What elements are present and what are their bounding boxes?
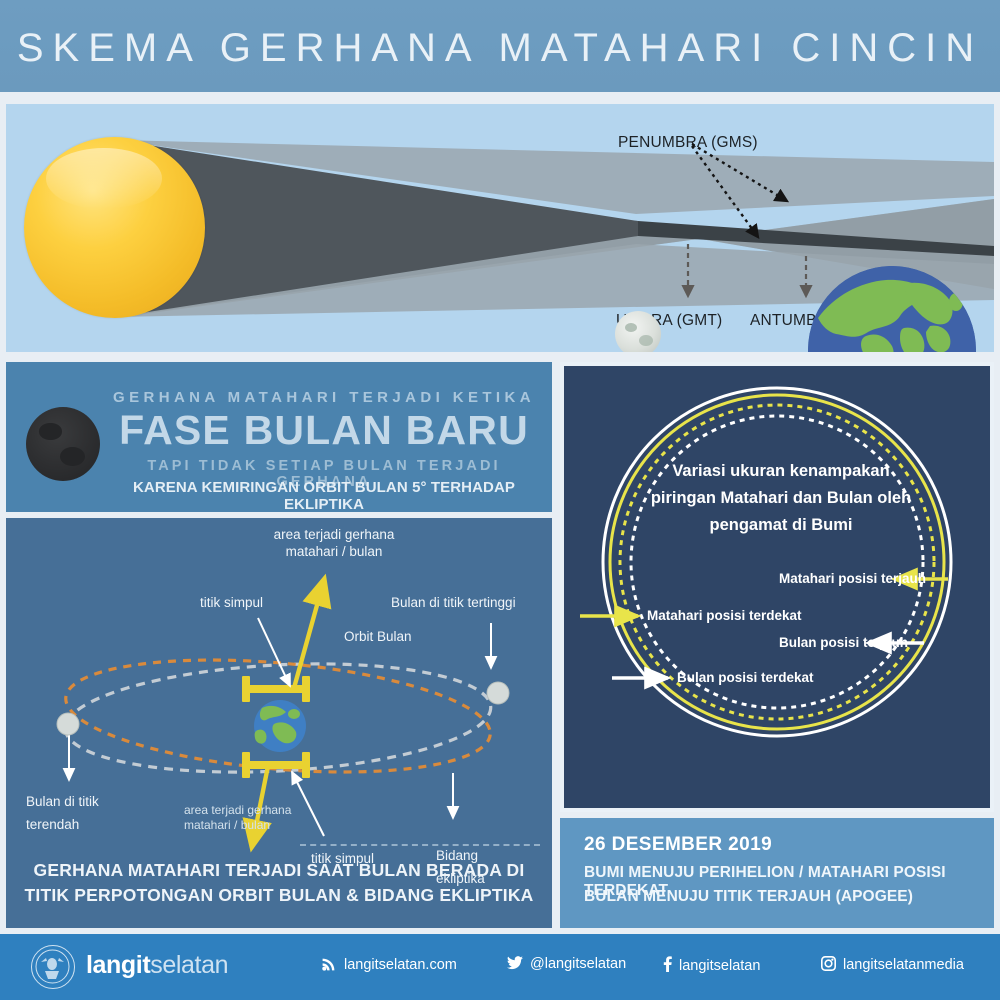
apparent-size-rings xyxy=(564,366,990,808)
label-node-top: titik simpul xyxy=(200,594,263,611)
new-moon-kicker: GERHANA MATAHARI TERJADI KETIKA xyxy=(106,389,542,406)
orbit-caption: GERHANA MATAHARI TERJADI SAAT BULAN BERA… xyxy=(16,858,542,908)
instagram-icon xyxy=(821,956,836,975)
label-eclipse-area-bottom: area terjadi gerhana matahari / bulan xyxy=(184,803,291,833)
label-moon-orbit: Orbit Bulan xyxy=(344,628,412,645)
label-sun-nearest: Matahari posisi terdekat xyxy=(647,608,802,623)
social-link-instagram[interactable]: langitselatanmedia xyxy=(821,956,964,975)
apparent-size-title: Variasi ukuran kenampakan piringan Matah… xyxy=(624,458,938,539)
event-note-2: BULAN MENUJU TITIK TERJAUH (APOGEE) xyxy=(584,888,913,906)
label-eclipse-area-top: area terjadi gerhana matahari / bulan xyxy=(259,526,409,560)
label-moon-farthest: Bulan posisi terjauh xyxy=(779,635,908,650)
new-moon-icon xyxy=(26,407,100,481)
event-date-panel: 26 DESEMBER 2019 BUMI MENUJU PERIHELION … xyxy=(560,818,994,928)
label-eclipse-area-top-line1: area terjadi gerhana xyxy=(259,526,409,543)
label-moon-lowest-line2: terendah xyxy=(26,813,99,836)
facebook-icon xyxy=(663,956,672,976)
social-link-facebook[interactable]: langitselatan xyxy=(663,956,760,976)
rss-icon xyxy=(322,956,337,975)
apparent-size-title-line3: pengamat di Bumi xyxy=(624,512,938,539)
infographic-page: SKEMA GERHANA MATAHARI CINCIN xyxy=(0,0,1000,1000)
header-banner: SKEMA GERHANA MATAHARI CINCIN xyxy=(0,0,1000,92)
footer-bar: langitselatan langitselatan.com @langits… xyxy=(0,934,1000,1000)
social-link-website[interactable]: langitselatan.com xyxy=(322,956,457,975)
apparent-size-title-line1: Variasi ukuran kenampakan xyxy=(624,458,938,485)
langitselatan-seal-icon xyxy=(31,945,75,989)
social-link-twitter[interactable]: @langitselatan xyxy=(507,956,626,974)
new-moon-phase-panel: GERHANA MATAHARI TERJADI KETIKA FASE BUL… xyxy=(6,362,552,512)
label-eclipse-area-top-line2: matahari / bulan xyxy=(259,543,409,560)
brand-wordmark: langitselatan xyxy=(86,951,228,980)
eclipse-geometry-diagram: PENUMBRA (GMS) UMBRA (GMT) ANTUMBRA (GMC… xyxy=(6,104,994,352)
social-label-instagram: langitselatanmedia xyxy=(843,957,964,973)
seal-emblem-icon xyxy=(32,946,73,987)
twitter-icon xyxy=(507,956,523,974)
label-eclipse-area-bottom-line1: area terjadi gerhana xyxy=(184,803,291,818)
orbit-caption-line1: GERHANA MATAHARI TERJADI SAAT BULAN BERA… xyxy=(16,858,542,883)
new-moon-note: KARENA KEMIRINGAN ORBIT BULAN 5° TERHADA… xyxy=(106,479,542,513)
social-label-website: langitselatan.com xyxy=(344,957,457,973)
apparent-size-title-line2: piringan Matahari dan Bulan oleh xyxy=(624,485,938,512)
label-moon-lowest-line1: Bulan di titik xyxy=(26,790,99,813)
brand-light: selatan xyxy=(150,951,228,979)
orbit-caption-line2: TITIK PERPOTONGAN ORBIT BULAN & BIDANG E… xyxy=(16,883,542,908)
penumbra-leader-arrows xyxy=(6,104,994,352)
apparent-size-panel: Variasi ukuran kenampakan piringan Matah… xyxy=(560,362,994,812)
label-sun-farthest: Matahari posisi terjauh xyxy=(779,571,926,586)
brand-bold: langit xyxy=(86,951,150,979)
label-moon-highest: Bulan di titik tertinggi xyxy=(391,594,516,611)
label-moon-nearest: Bulan posisi terdekat xyxy=(677,670,814,685)
page-title: SKEMA GERHANA MATAHARI CINCIN xyxy=(0,26,1000,71)
social-label-facebook: langitselatan xyxy=(679,958,760,974)
label-moon-lowest: Bulan di titik terendah xyxy=(26,790,99,836)
caption-divider xyxy=(300,844,540,846)
new-moon-headline: FASE BULAN BARU xyxy=(106,407,542,453)
social-label-twitter: @langitselatan xyxy=(530,956,626,972)
label-eclipse-area-bottom-line2: matahari / bulan xyxy=(184,818,291,833)
event-date: 26 DESEMBER 2019 xyxy=(584,834,772,856)
